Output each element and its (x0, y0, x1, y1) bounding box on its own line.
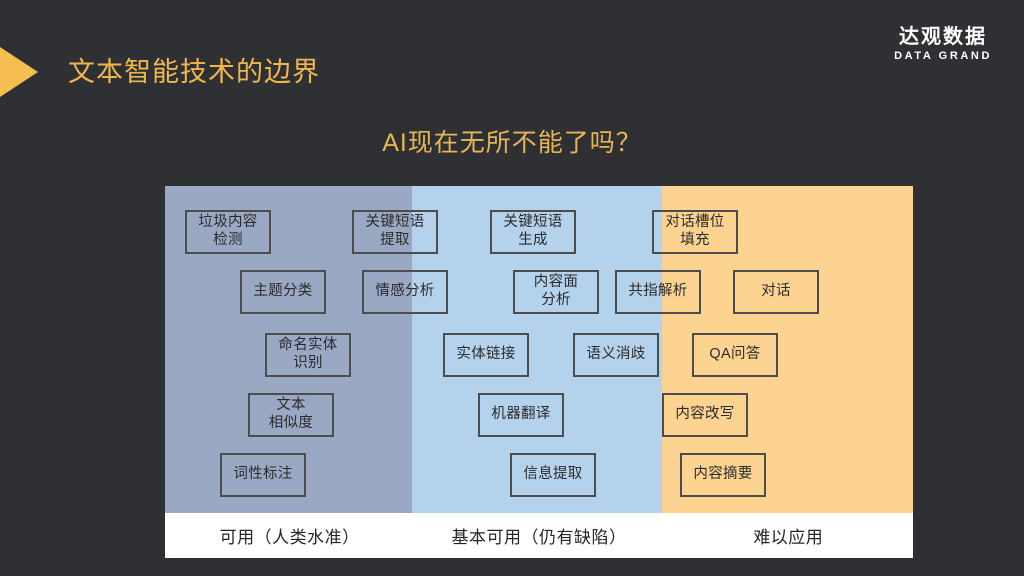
task-box[interactable]: 信息提取 (510, 453, 596, 497)
task-box-label: 主题分类 (253, 283, 312, 301)
capability-matrix-panel: 垃圾内容检测关键短语提取关键短语生成对话槽位填充主题分类情感分析内容面分析共指解… (165, 186, 913, 558)
task-box[interactable]: 垃圾内容检测 (185, 210, 271, 254)
legend-label-hard-to-apply: 难以应用 (664, 523, 913, 548)
task-box-label: 词性标注 (233, 466, 292, 484)
legend-label-usable: 可用（人类水准） (165, 523, 414, 548)
task-box-label: 内容面分析 (534, 274, 578, 309)
task-box[interactable]: 情感分析 (362, 270, 448, 314)
task-box-label: 情感分析 (375, 283, 434, 301)
task-box-label: 语义消歧 (586, 346, 645, 364)
task-box[interactable]: 词性标注 (220, 453, 306, 497)
task-box[interactable]: 主题分类 (240, 270, 326, 314)
capability-legend: 可用（人类水准） 基本可用（仍有缺陷） 难以应用 (165, 513, 913, 558)
task-box-label: 内容摘要 (693, 466, 752, 484)
task-box[interactable]: 机器翻译 (478, 393, 564, 437)
task-box-label: 信息提取 (523, 466, 582, 484)
task-box[interactable]: 实体链接 (443, 333, 529, 377)
task-box-label: 内容改写 (675, 406, 734, 424)
logo-chinese-text: 达观数据 (894, 26, 992, 49)
task-box[interactable]: 内容面分析 (513, 270, 599, 314)
task-box-label: 关键短语生成 (503, 214, 562, 249)
task-box[interactable]: QA问答 (692, 333, 778, 377)
slide-subtitle: AI现在无所不能了吗？ (0, 123, 1024, 159)
task-box[interactable]: 关键短语提取 (352, 210, 438, 254)
title-arrow-icon (0, 47, 38, 97)
logo-english-text: DATA GRAND (894, 50, 992, 62)
task-box-label: 机器翻译 (491, 406, 550, 424)
task-box[interactable]: 命名实体识别 (265, 333, 351, 377)
task-box-label: 关键短语提取 (365, 214, 424, 249)
task-box-label: 对话槽位填充 (665, 214, 724, 249)
task-box-label: 文本相似度 (269, 397, 313, 432)
capability-bands: 垃圾内容检测关键短语提取关键短语生成对话槽位填充主题分类情感分析内容面分析共指解… (165, 186, 913, 513)
task-box[interactable]: 对话 (733, 270, 819, 314)
brand-logo: 达观数据 DATA GRAND (894, 26, 992, 62)
legend-label-mostly-usable: 基本可用（仍有缺陷） (414, 523, 663, 548)
task-box[interactable]: 对话槽位填充 (652, 210, 738, 254)
task-box[interactable]: 内容改写 (662, 393, 748, 437)
task-box[interactable]: 语义消歧 (573, 333, 659, 377)
task-box[interactable]: 关键短语生成 (490, 210, 576, 254)
task-box[interactable]: 内容摘要 (680, 453, 766, 497)
task-box-label: QA问答 (709, 346, 760, 364)
page-title: 文本智能技术的边界 (68, 50, 320, 89)
task-box-label: 垃圾内容检测 (198, 214, 257, 249)
task-box-label: 共指解析 (628, 283, 687, 301)
task-box-label: 实体链接 (456, 346, 515, 364)
task-box[interactable]: 文本相似度 (248, 393, 334, 437)
task-box-label: 对话 (761, 283, 791, 301)
task-box-label: 命名实体识别 (278, 337, 337, 372)
task-box[interactable]: 共指解析 (615, 270, 701, 314)
